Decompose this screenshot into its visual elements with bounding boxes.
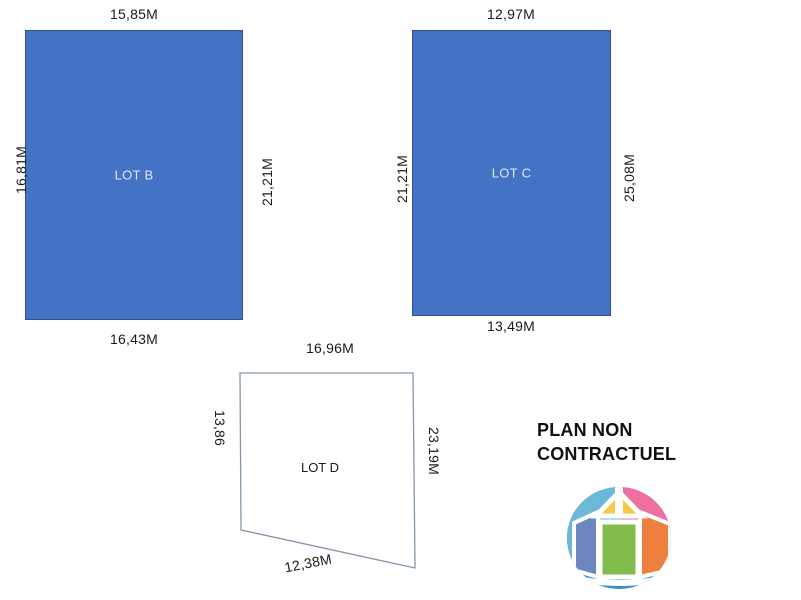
disclaimer-line-1: PLAN NON xyxy=(537,418,757,442)
lot-b-right-dimension: 21,21M xyxy=(256,137,278,227)
plan-disclaimer-text: PLAN NON CONTRACTUEL xyxy=(537,418,757,467)
lot-d-label: LOT D xyxy=(280,460,360,475)
lot-c-top-dimension: 12,97M xyxy=(400,6,622,22)
lot-b-label: LOT B xyxy=(26,168,242,183)
lot-d-left-dimension: 13,86 xyxy=(209,383,231,473)
lot-c-left-dimension: 21,21M xyxy=(391,134,413,224)
site-plan-canvas: 15,85M LOT B 16,81M 21,21M 16,43M 12,97M… xyxy=(0,0,801,600)
lot-b-bottom-dimension: 16,43M xyxy=(0,331,268,347)
lot-c-right-dimension: 25,08M xyxy=(618,133,640,223)
lot-b-left-dimension: 16,81M xyxy=(10,125,32,215)
lot-d-top-dimension: 16,96M xyxy=(235,340,425,356)
lot-c-shape[interactable]: LOT C xyxy=(412,30,611,316)
agency-globe-logo-icon xyxy=(558,478,680,598)
lot-c-bottom-dimension: 13,49M xyxy=(400,318,622,334)
disclaimer-line-2: CONTRACTUEL xyxy=(537,442,757,466)
lot-c-label: LOT C xyxy=(413,166,610,181)
lot-b-top-dimension: 15,85M xyxy=(0,6,268,22)
lot-d-right-dimension: 23,19M xyxy=(423,406,445,496)
lot-b-shape[interactable]: LOT B xyxy=(25,30,243,320)
